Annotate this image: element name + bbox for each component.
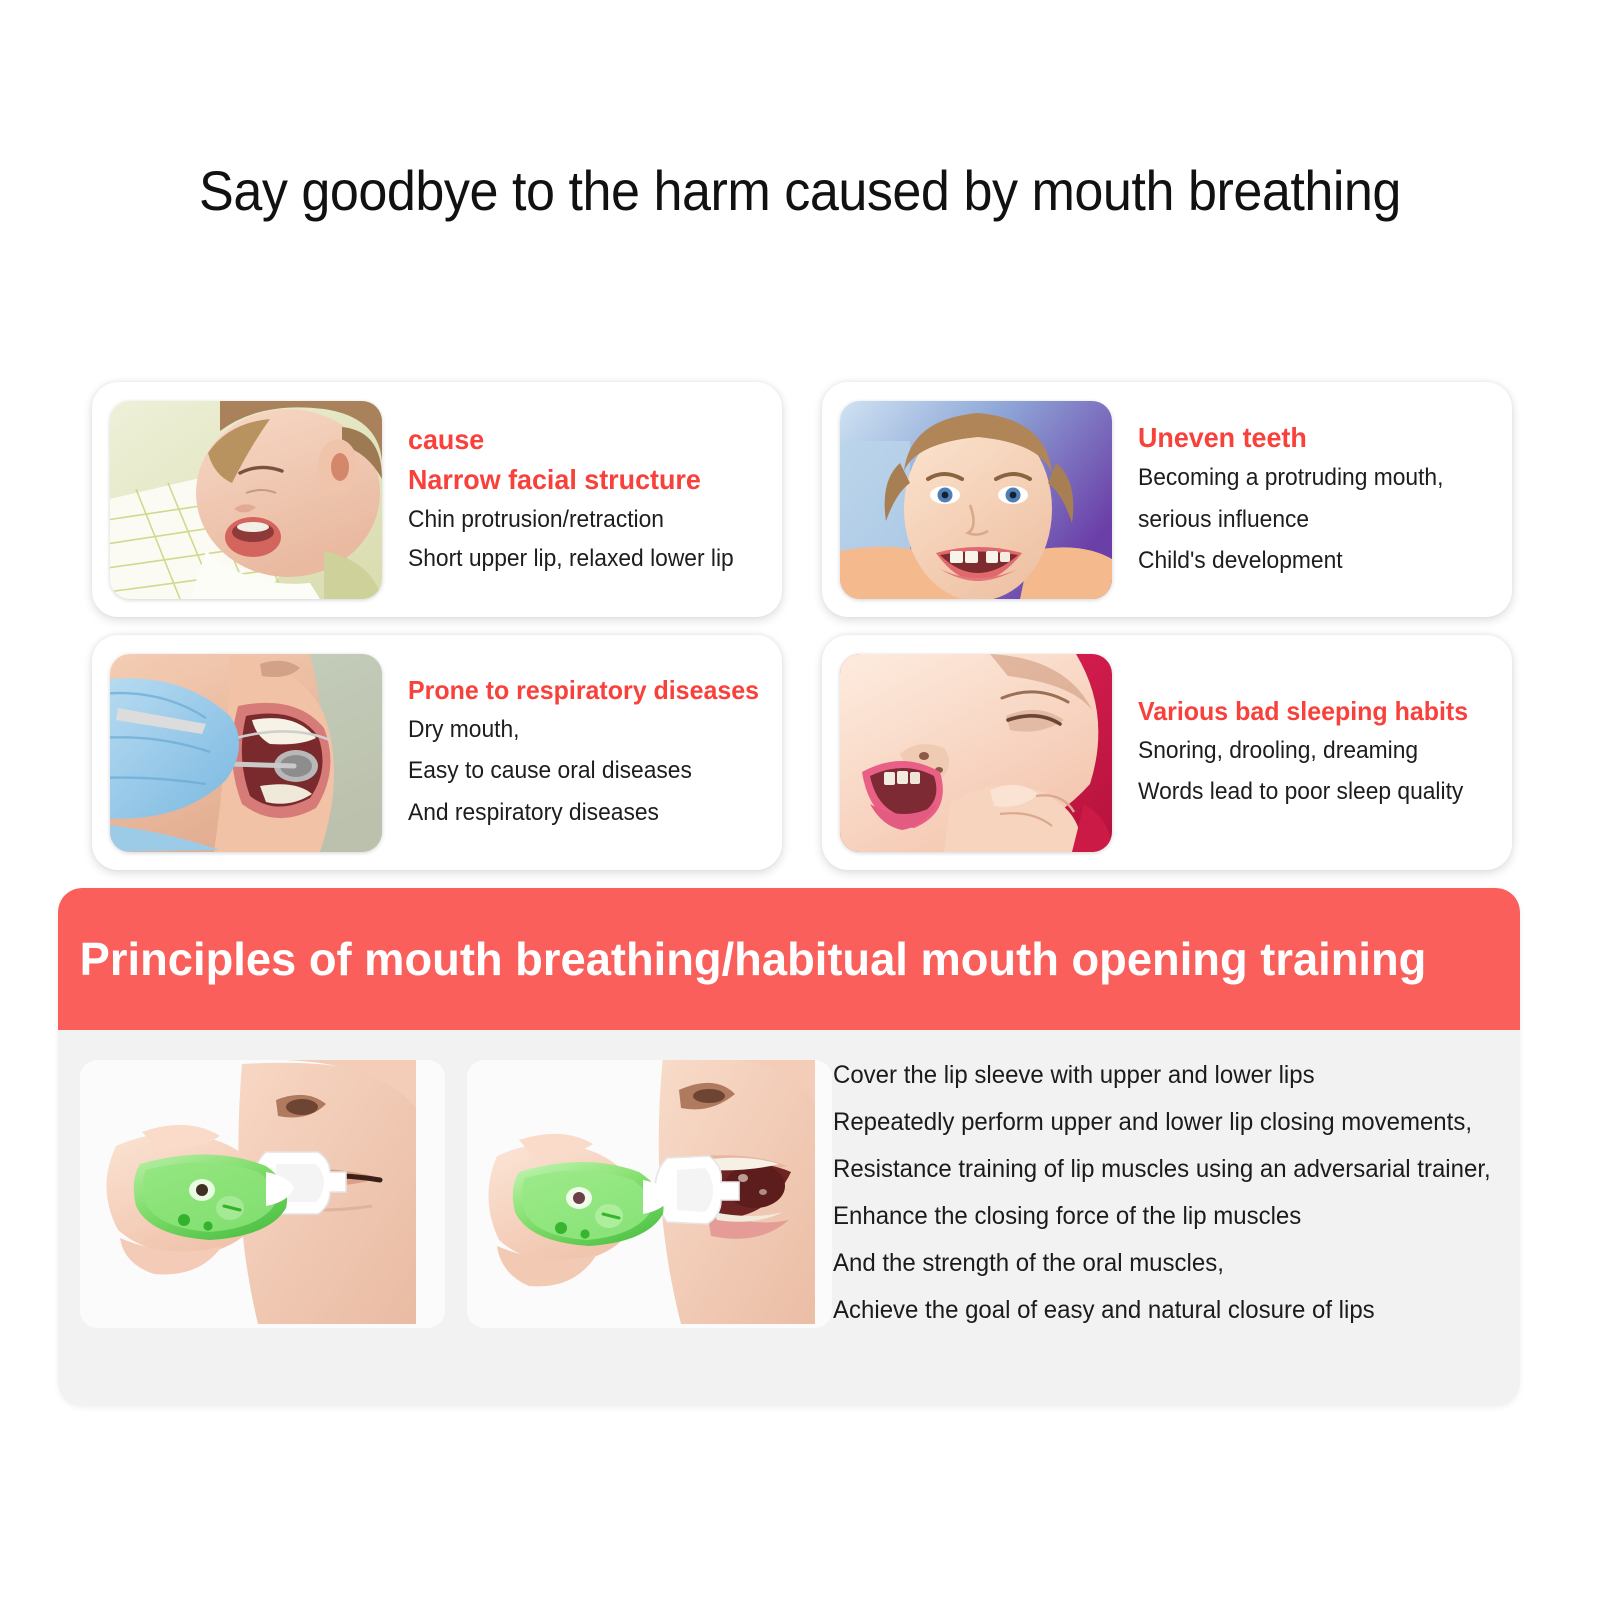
card-respiratory-diseases: Prone to respiratory diseases Dry mouth,… — [92, 635, 782, 870]
training-steps: Cover the lip sleeve with upper and lowe… — [833, 1030, 1520, 1334]
card-heading: Uneven teeth — [1138, 418, 1476, 458]
card-line: Snoring, drooling, dreaming — [1138, 730, 1472, 771]
training-step: Repeatedly perform upper and lower lip c… — [833, 1099, 1493, 1146]
card-line: Becoming a protruding mouth, — [1138, 457, 1472, 498]
card-body: Prone to respiratory diseases Dry mouth,… — [382, 672, 780, 833]
lip-trainer-closed-mouth-photo — [80, 1060, 445, 1328]
lip-trainer-open-mouth-photo — [467, 1060, 832, 1328]
card-heading-top: cause — [408, 420, 746, 460]
card-heading: Various bad sleeping habits — [1138, 693, 1476, 730]
training-step: Cover the lip sleeve with upper and lowe… — [833, 1052, 1493, 1099]
training-step: Achieve the goal of easy and natural clo… — [833, 1287, 1493, 1334]
card-heading: Narrow facial structure — [408, 460, 746, 500]
training-step: And the strength of the oral muscles, — [833, 1240, 1493, 1287]
card-line: Child's development — [1138, 540, 1472, 581]
dental-examination-photo — [110, 654, 382, 852]
sleeping-child-open-mouth-photo — [110, 401, 382, 599]
training-banner-text: Principles of mouth breathing/habitual m… — [58, 932, 1426, 986]
harm-cards-grid: cause Narrow facial structure Chin protr… — [92, 382, 1512, 870]
infographic-page: Say goodbye to the harm caused by mouth … — [0, 0, 1600, 1600]
card-body: Uneven teeth Becoming a protruding mouth… — [1112, 418, 1496, 582]
page-title: Say goodbye to the harm caused by mouth … — [56, 158, 1544, 223]
card-line: And respiratory diseases — [408, 792, 755, 833]
card-body: cause Narrow facial structure Chin protr… — [382, 420, 766, 579]
training-step: Resistance training of lip muscles using… — [833, 1146, 1493, 1193]
training-panel: Principles of mouth breathing/habitual m… — [58, 888, 1520, 1406]
card-line: Words lead to poor sleep quality — [1138, 771, 1472, 812]
card-bad-sleeping-habits: Various bad sleeping habits Snoring, dro… — [822, 635, 1512, 870]
training-banner: Principles of mouth breathing/habitual m… — [58, 888, 1520, 1030]
training-step: Enhance the closing force of the lip mus… — [833, 1193, 1493, 1240]
card-line: Short upper lip, relaxed lower lip — [408, 539, 742, 579]
card-narrow-facial-structure: cause Narrow facial structure Chin protr… — [92, 382, 782, 617]
card-body: Various bad sleeping habits Snoring, dro… — [1112, 693, 1496, 812]
card-line: Dry mouth, — [408, 709, 755, 750]
card-heading: Prone to respiratory diseases — [408, 672, 759, 709]
training-panel-body: Cover the lip sleeve with upper and lowe… — [58, 1030, 1520, 1406]
card-line: serious influence — [1138, 499, 1472, 540]
smiling-girl-uneven-teeth-photo — [840, 401, 1112, 599]
product-shots — [58, 1030, 833, 1328]
child-sleeping-mouth-open-red-pillow-photo — [840, 654, 1112, 852]
card-uneven-teeth: Uneven teeth Becoming a protruding mouth… — [822, 382, 1512, 617]
card-line: Easy to cause oral diseases — [408, 750, 755, 791]
card-line: Chin protrusion/retraction — [408, 500, 742, 540]
